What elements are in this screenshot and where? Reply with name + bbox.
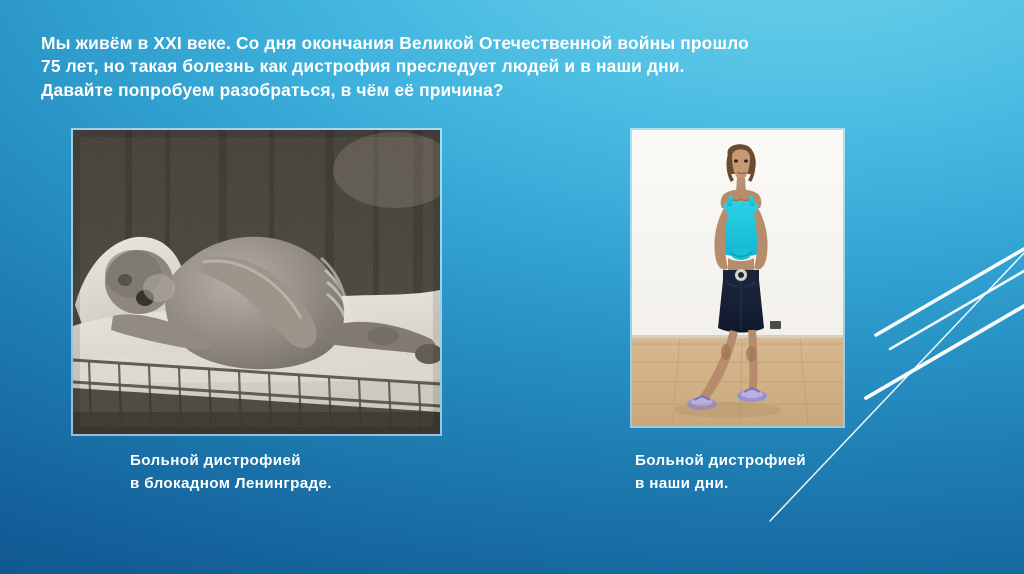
leningrad-photo-image <box>73 130 440 434</box>
caption-leningrad: Больной дистрофией в блокадном Ленинград… <box>130 450 332 495</box>
present-day-photo-image <box>632 130 843 426</box>
photo-leningrad <box>73 130 440 434</box>
caption-present-day: Больной дистрофией в наши дни. <box>635 450 806 495</box>
accent-line-1 <box>876 249 1024 335</box>
accent-line-4 <box>866 306 1024 398</box>
photo-present-day <box>632 130 843 426</box>
accent-line-2 <box>890 271 1024 349</box>
presentation-slide: Мы живём в XXI веке. Со дня окончания Ве… <box>0 0 1024 574</box>
slide-heading: Мы живём в XXI веке. Со дня окончания Ве… <box>41 32 941 102</box>
